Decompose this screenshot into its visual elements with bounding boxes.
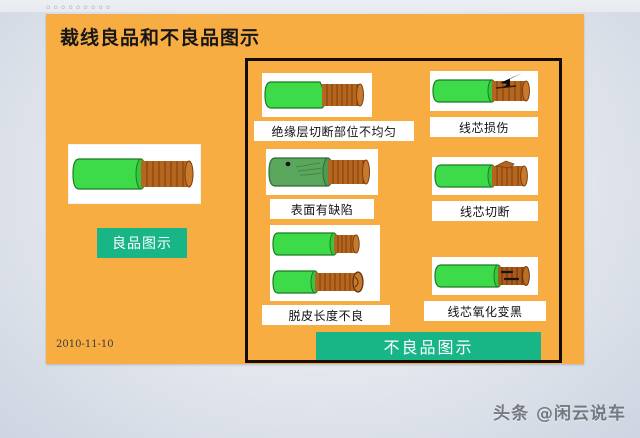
bad-item-4-caption: 脱皮长度不良 [262, 305, 390, 325]
wire-core-damaged-icon [430, 71, 538, 111]
bad-item-1-photo [430, 71, 538, 111]
good-product-banner-label: 良品图示 [112, 233, 172, 253]
bad-item-4-photo [270, 225, 380, 301]
bad-item-2-caption: 表面有缺陷 [270, 199, 374, 219]
top-partial-text: 。。。。。。。。。 [46, 0, 346, 10]
slide-date: 2010-11-10 [56, 339, 114, 350]
watermark: 头条 @闲云说车 [493, 399, 626, 424]
bad-product-banner: 不良品图示 [316, 332, 541, 360]
wire-core-oxidized-black-icon [432, 257, 538, 295]
wire-strip-length-bad-icon [270, 225, 380, 301]
wire-core-cut-icon [432, 157, 538, 195]
bad-item-5-photo [432, 257, 538, 295]
good-wire-stripped-icon [69, 145, 200, 203]
good-product-banner: 良品图示 [97, 228, 187, 258]
good-wire-photo [68, 144, 201, 204]
bad-item-0-caption: 绝缘层切断部位不均匀 [254, 121, 414, 141]
wire-surface-defect-icon [266, 149, 378, 195]
page-title: 裁线良品和不良品图示 [60, 23, 260, 50]
slide: 裁线良品和不良品图示 良品图示 2010-11-10 [46, 14, 584, 364]
bad-product-banner-label: 不良品图示 [383, 334, 473, 358]
bad-item-0-photo [262, 73, 372, 117]
bad-item-5-caption: 线芯氧化变黑 [424, 301, 546, 321]
bad-product-box: 绝缘层切断部位不均匀 [245, 58, 562, 363]
bad-item-2-photo [266, 149, 378, 195]
wire-uneven-insulation-cut-icon [262, 73, 372, 117]
bad-item-3-caption: 线芯切断 [432, 201, 538, 221]
bad-item-1-caption: 线芯损伤 [430, 117, 538, 137]
bad-item-3-photo [432, 157, 538, 195]
